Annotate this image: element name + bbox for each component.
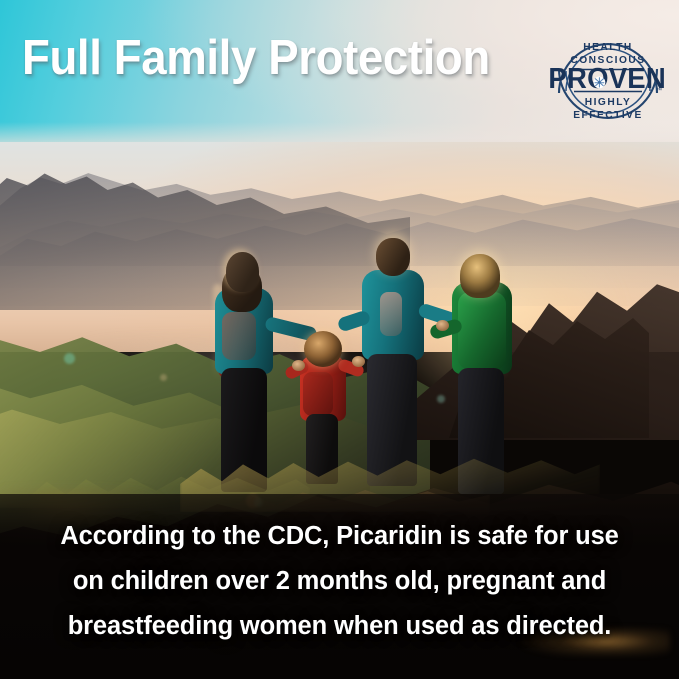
mother-backpack-panel [222, 312, 256, 360]
badge-trademark: ™ [656, 87, 662, 94]
promo-banner: Full Family Protection HEALTH CONSCIOUS [0, 0, 679, 679]
joined-hand [436, 320, 449, 331]
badge-bottom-line-2: EFFECTIVE [573, 110, 643, 121]
caption-text: According to the CDC, Picaridin is safe … [0, 514, 679, 649]
boy-head [376, 238, 410, 276]
boy-backpack-panel [380, 292, 402, 336]
toddler-backpack [303, 372, 333, 416]
badge-top-line-1: HEALTH [583, 42, 633, 53]
joined-hand [292, 360, 305, 371]
girl-backpack [458, 292, 506, 370]
toddler-hair [304, 331, 342, 367]
caption-line-1: According to the CDC, Picaridin is safe … [0, 514, 679, 559]
caption-line-2: on children over 2 months old, pregnant … [0, 559, 679, 604]
joined-hand [352, 356, 365, 367]
badge-bottom-line-1: HIGHLY [585, 97, 632, 108]
girl-hair [460, 254, 500, 298]
page-title: Full Family Protection [22, 34, 490, 83]
mosquito-icon [594, 77, 606, 89]
mother-head [226, 252, 259, 292]
proven-badge: HEALTH CONSCIOUS PROVEN ™ HIGHLY EFFECTI… [547, 29, 669, 131]
badge-word: PROVEN [548, 63, 666, 95]
caption-line-3: breastfeeding women when used as directe… [0, 604, 679, 649]
